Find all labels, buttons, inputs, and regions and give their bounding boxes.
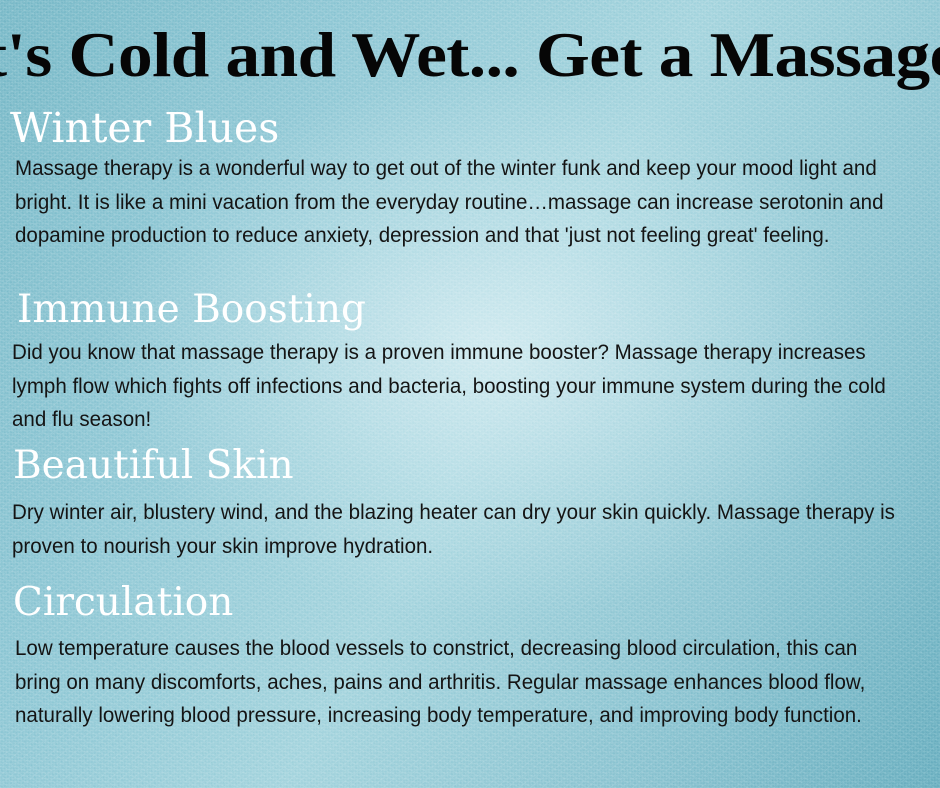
section-body-beautiful-skin: Dry winter air, blustery wind, and the b… (12, 496, 900, 563)
section-heading-immune-boosting: Immune Boosting (17, 290, 366, 329)
poster-canvas: It's Cold and Wet... Get a Massage! Wint… (0, 0, 940, 788)
section-heading-circulation: Circulation (13, 583, 233, 622)
section-body-circulation: Low temperature causes the blood vessels… (15, 632, 898, 733)
section-heading-winter-blues: Winter Blues (10, 108, 279, 149)
poster-title: It's Cold and Wet... Get a Massage! (0, 24, 940, 87)
section-body-immune-boosting: Did you know that massage therapy is a p… (12, 336, 900, 437)
poster-content: It's Cold and Wet... Get a Massage! Wint… (0, 0, 940, 788)
section-heading-beautiful-skin: Beautiful Skin (13, 446, 294, 485)
section-body-winter-blues: Massage therapy is a wonderful way to ge… (15, 152, 898, 253)
